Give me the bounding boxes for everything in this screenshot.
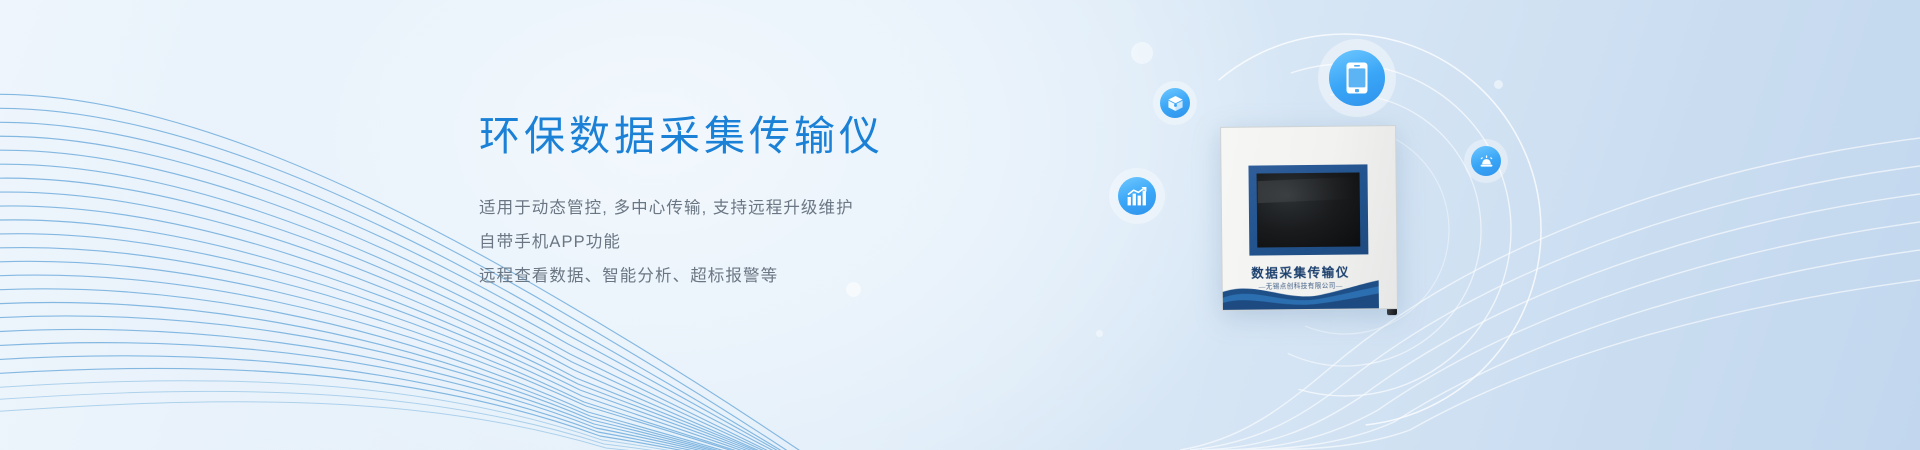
product-banner: 数据采集传输仪 —无锡点创科技有限公司—	[0, 0, 1920, 450]
banner-subtitle-line-1: 适用于动态管控, 多中心传输, 支持远程升级维护	[479, 191, 1119, 225]
bubble-data-package[interactable]	[1160, 88, 1190, 118]
banner-subtitle-list: 适用于动态管控, 多中心传输, 支持远程升级维护 自带手机APP功能 远程查看数…	[479, 191, 1119, 293]
screen-reflection	[1258, 177, 1354, 203]
bubble-analytics[interactable]	[1118, 177, 1156, 215]
page-title: 环保数据采集传输仪	[479, 110, 1119, 162]
device-front-panel: 数据采集传输仪 —无锡点创科技有限公司—	[1220, 125, 1398, 311]
bubble-alarm[interactable]	[1471, 146, 1501, 176]
cube-box-icon	[1167, 95, 1184, 112]
device-wave-graphic	[1223, 274, 1379, 310]
banner-subtitle-line-3: 远程查看数据、智能分析、超标报警等	[479, 259, 1119, 293]
banner-subtitle-line-2: 自带手机APP功能	[479, 225, 1119, 259]
mobile-phone-icon	[1345, 61, 1369, 95]
bar-chart-growth-icon	[1126, 186, 1148, 207]
banner-text-block: 环保数据采集传输仪 适用于动态管控, 多中心传输, 支持远程升级维护 自带手机A…	[479, 110, 1119, 293]
alarm-siren-icon	[1478, 153, 1495, 169]
bubble-mobile-phone[interactable]	[1329, 50, 1385, 106]
data-acquisition-device: 数据采集传输仪 —无锡点创科技有限公司—	[1220, 125, 1396, 309]
